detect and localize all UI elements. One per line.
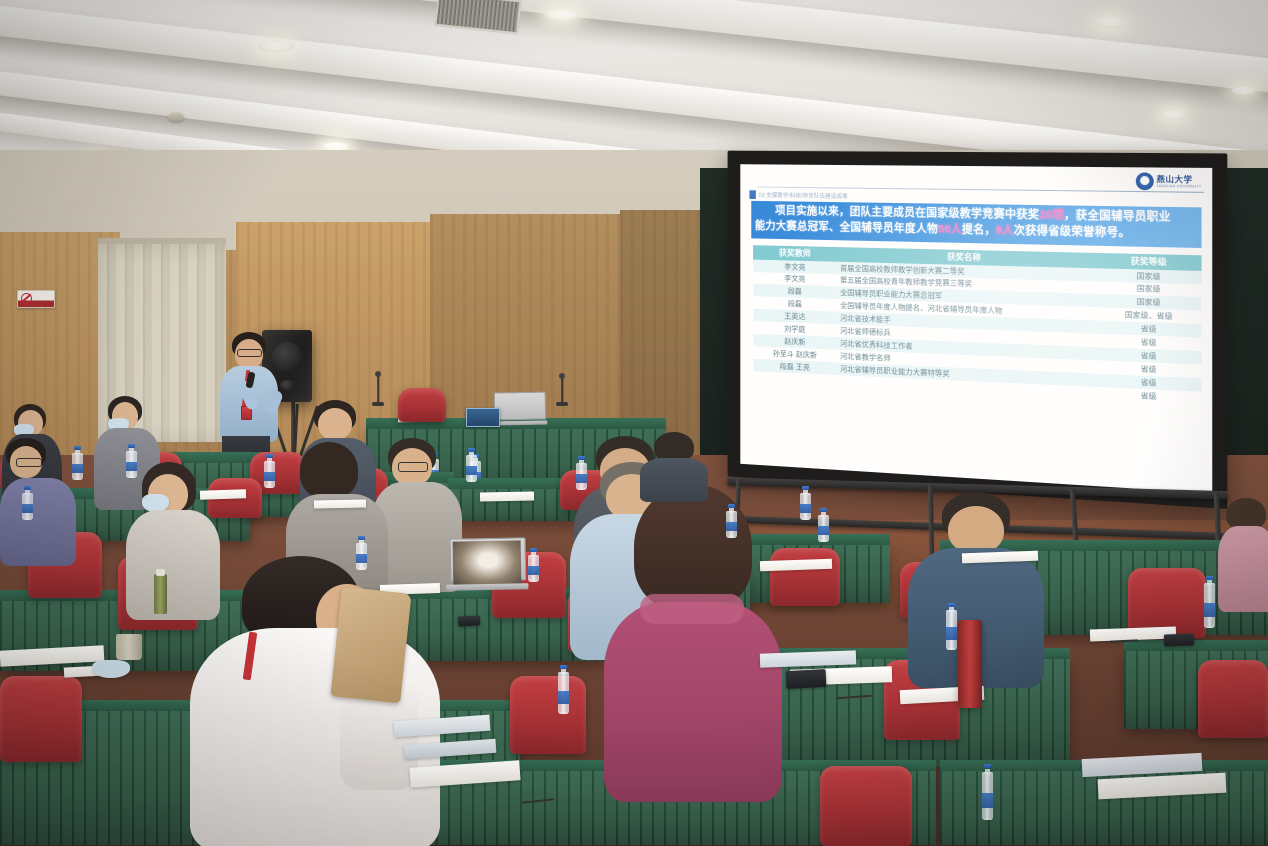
smartphone[interactable] (786, 669, 827, 689)
attendee-laptop[interactable] (450, 537, 525, 590)
attendee (0, 438, 80, 564)
notepad (200, 489, 246, 500)
conference-room-photo: 燕山大学 YANSHAN UNIVERSITY 03 支撑教学/科研/师资队伍建… (0, 0, 1268, 846)
banner-line1-a: 项目实施以来，团队主要成员在国家级教学竞赛中获奖 (775, 205, 1039, 221)
water-bottle (1204, 572, 1215, 628)
university-logo: 燕山大学 YANSHAN UNIVERSITY (1135, 172, 1201, 190)
water-bottle (22, 486, 33, 520)
chair (510, 676, 586, 754)
screen-surface: 燕山大学 YANSHAN UNIVERSITY 03 支撑教学/科研/师资队伍建… (740, 164, 1212, 493)
name-placard (466, 408, 500, 427)
presenter (214, 332, 284, 452)
banner-highlight-1: 20项 (1039, 209, 1064, 222)
face-mask (92, 660, 130, 678)
banner-line2-a: 能力大赛总冠军、全国辅导员年度人物 (755, 220, 938, 235)
logo-name-en: YANSHAN UNIVERSITY (1156, 184, 1201, 189)
attendee (640, 432, 710, 492)
slide-section-tag: 03 支撑教学/科研/师资队伍建设成果 (749, 190, 847, 200)
banner-highlight-3: 8人 (996, 224, 1014, 236)
water-bottle (528, 548, 539, 582)
chair (1198, 660, 1268, 738)
water-bottle (576, 456, 587, 490)
tag-marker-icon (749, 190, 755, 199)
banner-line1-b: ，获全国辅导员职业 (1064, 209, 1171, 223)
water-bottle (800, 486, 811, 520)
ceiling-downlight (1160, 110, 1186, 120)
smartphone[interactable] (458, 615, 480, 626)
cell-teacher (753, 371, 837, 387)
university-seal-icon (1135, 172, 1153, 190)
awards-table-body: 李文亮 首届全国高校教师教学创新大赛二等奖 国家级 李文亮 第五届全国高校青年教… (753, 259, 1201, 405)
thermos-bottle (958, 620, 982, 708)
chair (0, 676, 82, 762)
water-bottle (126, 444, 137, 478)
attendee (190, 556, 450, 846)
screen-frame: 燕山大学 YANSHAN UNIVERSITY 03 支撑教学/科研/师资队伍建… (728, 151, 1228, 509)
chair (820, 766, 912, 846)
water-bottle (818, 508, 829, 542)
thermos-bottle (154, 568, 165, 614)
water-bottle (466, 448, 477, 482)
handbag (330, 587, 411, 704)
water-bottle (982, 760, 993, 820)
ceiling-downlight (258, 40, 294, 52)
ceiling-downlight (545, 9, 579, 21)
no-smoking-sign (17, 290, 55, 308)
attendee (1218, 498, 1268, 608)
banner-highlight-2: 50人 (938, 223, 962, 235)
awards-table: 获奖教师 获奖名称 获奖等级 李文亮 首届全国高校教师教学创新大赛二等奖 国家级 (753, 245, 1201, 405)
logo-name-cn: 燕山大学 (1156, 175, 1201, 184)
water-bottle (946, 600, 957, 650)
gooseneck-microphone[interactable] (556, 376, 568, 404)
hood (640, 594, 744, 624)
smartphone[interactable] (1164, 633, 1194, 646)
notepad (314, 500, 366, 509)
water-bottle (72, 446, 83, 480)
paper-cup (116, 634, 142, 660)
banner-line2-b: 提名， (962, 224, 996, 237)
water-bottle (726, 504, 737, 538)
slide-highlight-banner: 项目实施以来，团队主要成员在国家级教学竞赛中获奖20项，获全国辅导员职业 能力大… (751, 201, 1201, 248)
notepad (480, 492, 534, 502)
water-bottle (264, 454, 275, 488)
banner-line2-c: 次获得省级荣誉称号。 (1014, 225, 1131, 239)
presentation-slide: 燕山大学 YANSHAN UNIVERSITY 03 支撑教学/科研/师资队伍建… (740, 164, 1212, 493)
water-bottle (356, 536, 367, 570)
chair (398, 388, 446, 422)
smoke-detector-icon (168, 112, 184, 121)
ceiling-downlight (1232, 86, 1256, 95)
section-tag-label: 03 支撑教学/科研/师资队伍建设成果 (759, 190, 848, 200)
ceiling-downlight (1095, 17, 1125, 28)
water-bottle (558, 662, 569, 714)
attendee (604, 484, 784, 796)
presentation-laptop[interactable] (494, 392, 545, 426)
